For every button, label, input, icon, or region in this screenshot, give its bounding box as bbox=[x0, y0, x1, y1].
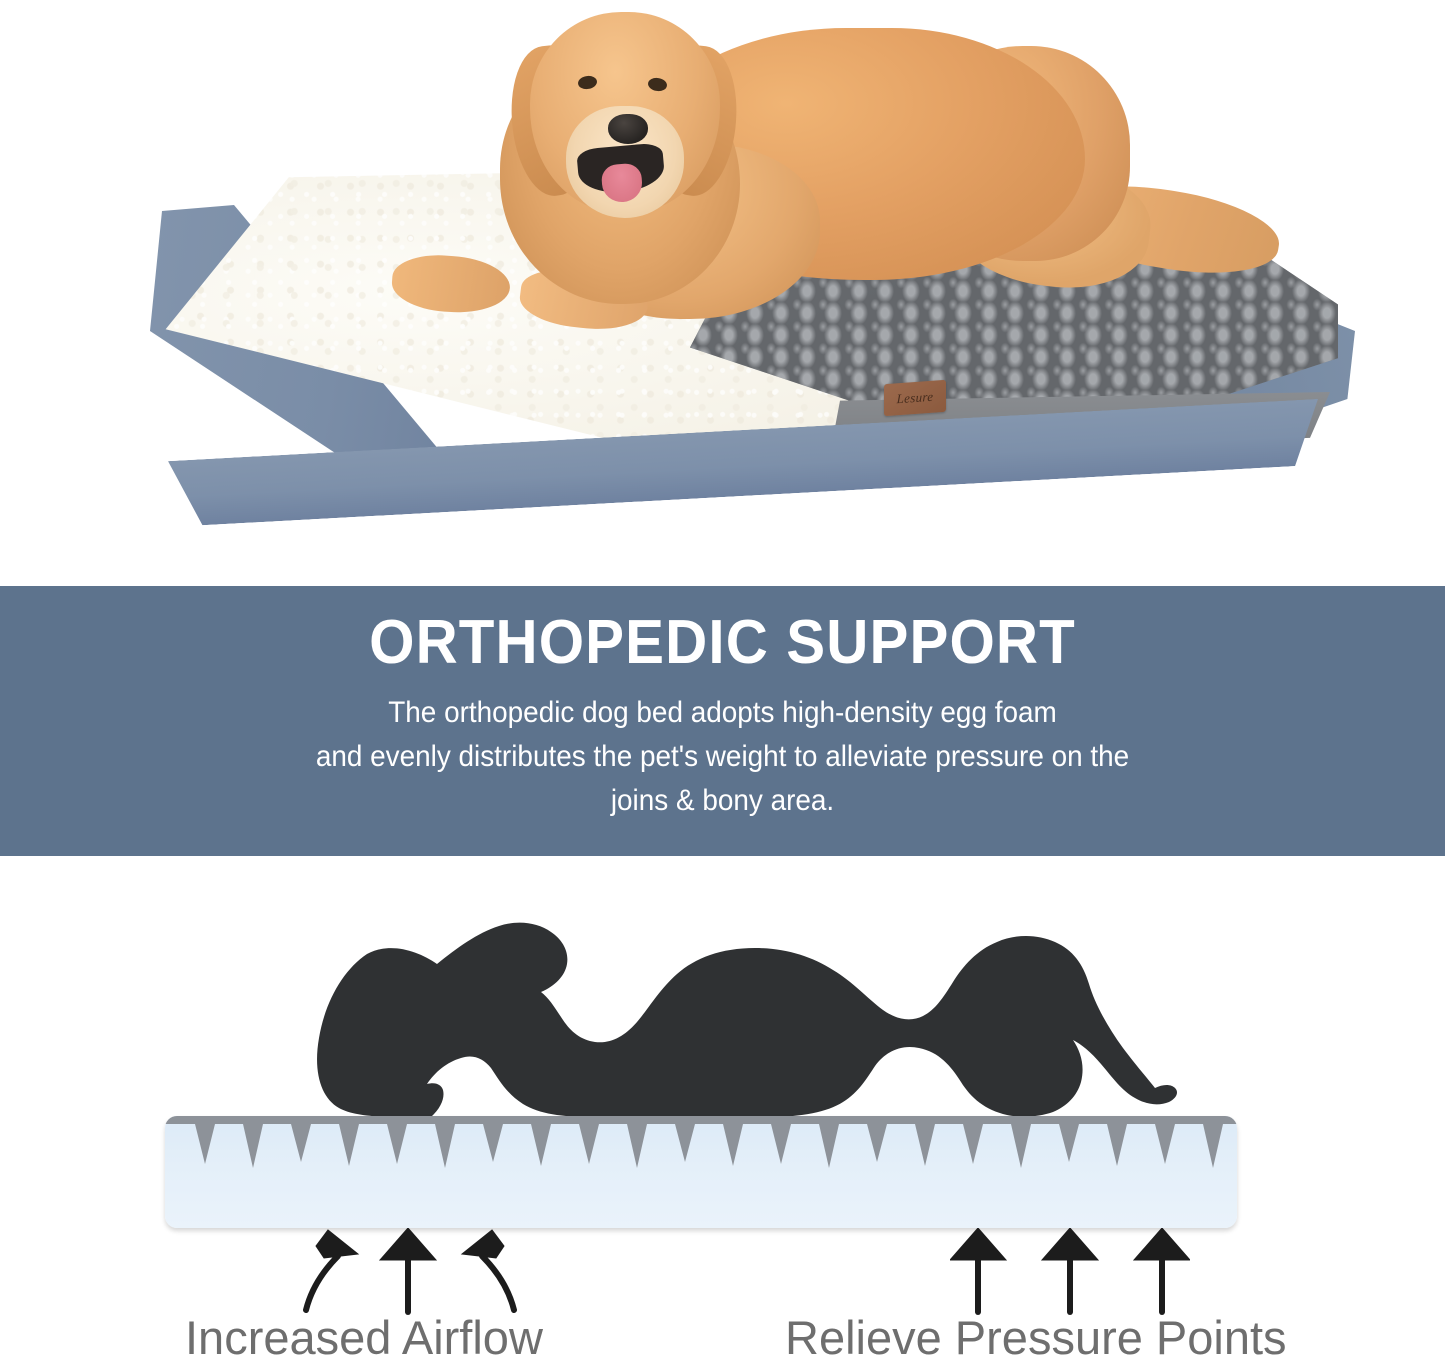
brand-label-patch: Lesure bbox=[884, 380, 946, 416]
dog-silhouette-icon bbox=[255, 912, 1205, 1127]
banner-description-line: joins & bony area. bbox=[51, 779, 1395, 823]
egg-foam-teeth bbox=[165, 1116, 1237, 1176]
dog-nose bbox=[608, 114, 648, 144]
banner-description-line: The orthopedic dog bed adopts high-densi… bbox=[51, 691, 1395, 735]
caption-relieve-pressure-points: Relieve Pressure Points bbox=[785, 1310, 1287, 1365]
product-photo-section: Lesure bbox=[0, 0, 1445, 586]
foam-mattress-cross-section bbox=[165, 1116, 1237, 1228]
dog-front-paw-left bbox=[390, 252, 512, 316]
pressure-arrows bbox=[950, 1228, 1190, 1318]
banner-title: ORTHOPEDIC SUPPORT bbox=[43, 610, 1401, 675]
product-photo-stage: Lesure bbox=[0, 0, 1445, 586]
airflow-arrows bbox=[290, 1228, 530, 1318]
caption-increased-airflow: Increased Airflow bbox=[185, 1310, 543, 1365]
orthopedic-support-banner: ORTHOPEDIC SUPPORT The orthopedic dog be… bbox=[0, 586, 1445, 856]
airflow-pressure-diagram-section bbox=[0, 856, 1445, 1364]
brand-label-text: Lesure bbox=[897, 389, 934, 408]
banner-description-line: and evenly distributes the pet's weight … bbox=[51, 735, 1395, 779]
golden-retriever-photo bbox=[370, 0, 1110, 354]
banner-description: The orthopedic dog bed adopts high-densi… bbox=[51, 691, 1395, 823]
